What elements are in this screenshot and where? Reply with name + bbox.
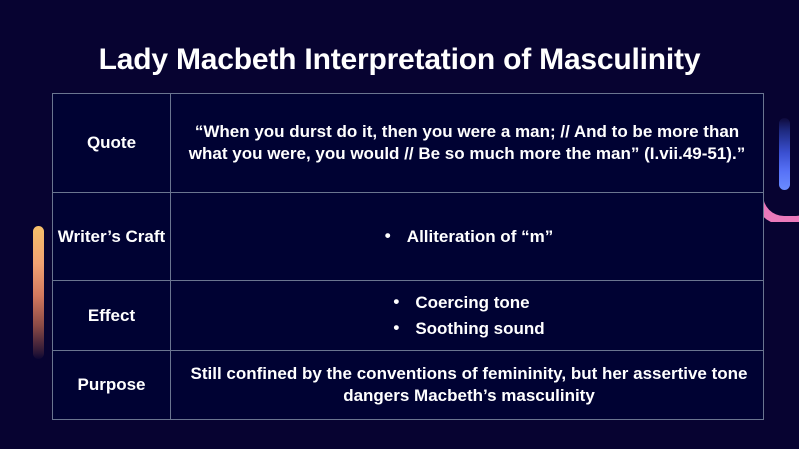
row-content-writers-craft: Alliteration of “m” [171,193,764,281]
table-row: Purpose Still confined by the convention… [53,351,764,420]
table-row: Effect Coercing tone Soothing sound [53,281,764,351]
list-item: Alliteration of “m” [381,224,553,250]
orange-gradient-bar-icon [33,226,44,359]
list-item: Coercing tone [389,290,544,316]
row-label-effect: Effect [53,281,171,351]
row-content-quote: “When you durst do it, then you were a m… [171,94,764,193]
bullet-list: Alliteration of “m” [381,224,553,250]
table-row: Quote “When you durst do it, then you we… [53,94,764,193]
blue-gradient-bar-icon [779,118,790,190]
analysis-table: Quote “When you durst do it, then you we… [52,93,764,420]
row-content-purpose: Still confined by the conventions of fem… [171,351,764,420]
row-label-purpose: Purpose [53,351,171,420]
list-item: Soothing sound [389,316,544,342]
page-title: Lady Macbeth Interpretation of Masculini… [0,43,799,76]
bullet-list: Coercing tone Soothing sound [389,290,544,341]
row-content-effect: Coercing tone Soothing sound [171,281,764,351]
table-row: Writer’s Craft Alliteration of “m” [53,193,764,281]
row-label-writers-craft: Writer’s Craft [53,193,171,281]
slide-canvas: Lady Macbeth Interpretation of Masculini… [0,0,799,449]
row-label-quote: Quote [53,94,171,193]
